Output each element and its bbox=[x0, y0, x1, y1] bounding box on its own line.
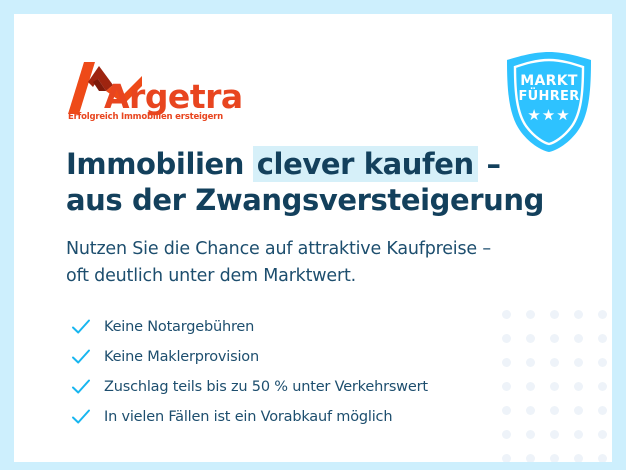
check-icon bbox=[70, 376, 92, 398]
decoration-dot bbox=[590, 374, 612, 398]
benefits-list: Keine NotargebührenKeine Maklerprovision… bbox=[70, 312, 530, 432]
decoration-dot bbox=[590, 446, 612, 462]
decoration-dot bbox=[566, 446, 590, 462]
decoration-dot bbox=[566, 302, 590, 326]
check-icon bbox=[70, 316, 92, 338]
headline-post: – bbox=[477, 147, 501, 181]
decoration-dot bbox=[542, 398, 566, 422]
headline-line-2: aus der Zwangsversteigerung bbox=[66, 183, 546, 219]
subheading-line-2: oft deutlich unter dem Marktwert. bbox=[66, 263, 566, 290]
decoration-dot bbox=[590, 302, 612, 326]
headline-highlight: clever kaufen bbox=[253, 146, 478, 182]
decoration-dot bbox=[590, 398, 612, 422]
market-leader-badge: MARKT FÜHRER ★★★ bbox=[503, 50, 595, 154]
badge-line-2: FÜHRER bbox=[503, 90, 595, 103]
decoration-dot bbox=[566, 422, 590, 446]
subheading: Nutzen Sie die Chance auf attraktive Kau… bbox=[66, 236, 566, 289]
decoration-dot bbox=[542, 374, 566, 398]
logo-wordmark: Argetra bbox=[104, 80, 243, 113]
decoration-dot bbox=[566, 326, 590, 350]
decoration-dot bbox=[542, 422, 566, 446]
check-icon bbox=[70, 406, 92, 428]
decoration-dot bbox=[566, 398, 590, 422]
decoration-dot bbox=[518, 446, 542, 462]
decoration-dot bbox=[494, 446, 518, 462]
decoration-dot bbox=[566, 374, 590, 398]
banner-card: Argetra Erfolgreich Immobilien ersteiger… bbox=[14, 14, 612, 462]
list-item: Keine Maklerprovision bbox=[70, 342, 530, 372]
decoration-dot bbox=[542, 326, 566, 350]
badge-line-1: MARKT bbox=[503, 74, 595, 88]
headline-line-1: Immobilien clever kaufen – bbox=[66, 147, 546, 183]
list-item-label: In vielen Fällen ist ein Vorabkauf mögli… bbox=[104, 409, 392, 425]
argetra-logo: Argetra Erfolgreich Immobilien ersteiger… bbox=[66, 58, 286, 126]
subheading-line-1: Nutzen Sie die Chance auf attraktive Kau… bbox=[66, 236, 566, 263]
page-title: Immobilien clever kaufen – aus der Zwang… bbox=[66, 147, 546, 219]
badge-stars: ★★★ bbox=[503, 108, 595, 123]
decoration-dot bbox=[542, 350, 566, 374]
decoration-dot bbox=[590, 326, 612, 350]
list-item-label: Keine Maklerprovision bbox=[104, 349, 259, 365]
promo-banner: Argetra Erfolgreich Immobilien ersteiger… bbox=[0, 0, 626, 470]
list-item: In vielen Fällen ist ein Vorabkauf mögli… bbox=[70, 402, 530, 432]
decoration-dot bbox=[542, 446, 566, 462]
decoration-dot bbox=[542, 302, 566, 326]
list-item-label: Zuschlag teils bis zu 50 % unter Verkehr… bbox=[104, 379, 428, 395]
headline-pre: Immobilien bbox=[66, 147, 254, 181]
check-icon bbox=[70, 346, 92, 368]
decoration-dot bbox=[566, 350, 590, 374]
list-item-label: Keine Notargebühren bbox=[104, 319, 254, 335]
decoration-dot bbox=[590, 422, 612, 446]
decoration-dot bbox=[590, 350, 612, 374]
list-item: Zuschlag teils bis zu 50 % unter Verkehr… bbox=[70, 372, 530, 402]
logo-tagline: Erfolgreich Immobilien ersteigern bbox=[68, 112, 223, 122]
list-item: Keine Notargebühren bbox=[70, 312, 530, 342]
